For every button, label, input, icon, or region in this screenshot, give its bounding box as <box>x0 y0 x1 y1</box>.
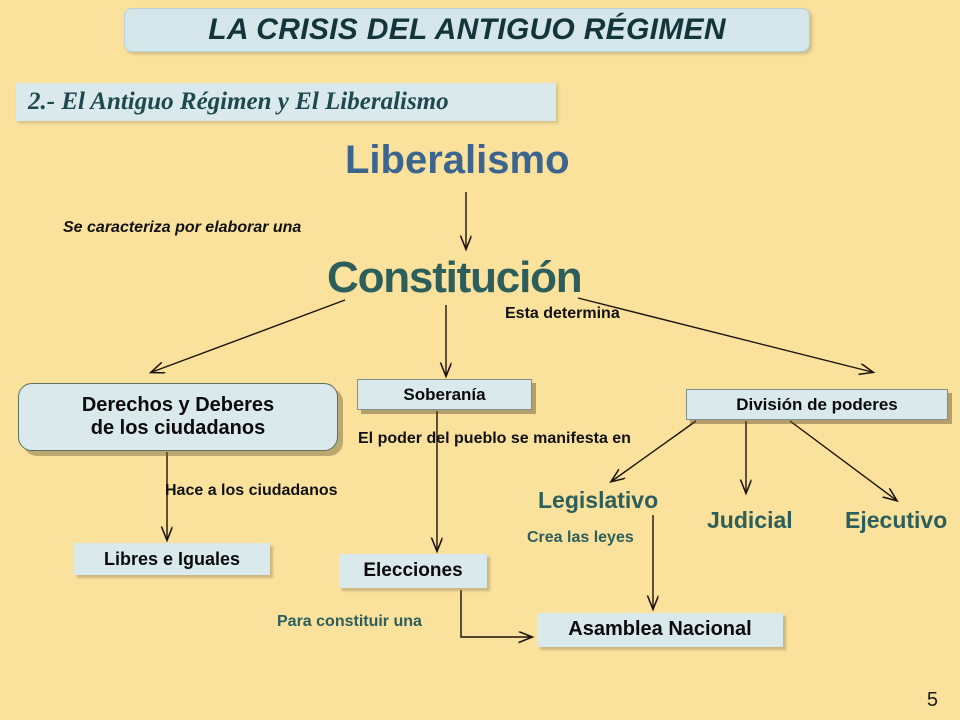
arrow-division-ejecutivo <box>790 421 896 500</box>
node-soberania: Soberanía <box>357 379 532 410</box>
label-judicial: Judicial <box>707 507 793 534</box>
caption-se-caracteriza: Se caracteriza por elaborar una <box>63 219 301 237</box>
arrow-constitucion-division <box>578 298 872 372</box>
slide-subtitle-banner: 2.- El Antiguo Régimen y El Liberalismo <box>16 83 556 121</box>
heading-liberalismo: Liberalismo <box>345 138 570 183</box>
label-ejecutivo: Ejecutivo <box>845 507 947 534</box>
node-derechos-y-deberes: Derechos y Deberes de los ciudadanos <box>18 383 338 451</box>
node-elecciones: Elecciones <box>339 554 487 588</box>
arrow-elecciones-asamblea <box>461 590 531 637</box>
node-libres-label: Libres e Iguales <box>104 549 240 570</box>
slide-canvas: LA CRISIS DEL ANTIGUO RÉGIMEN 2.- El Ant… <box>0 0 960 720</box>
slide-title-banner: LA CRISIS DEL ANTIGUO RÉGIMEN <box>124 8 810 52</box>
node-asamblea-label: Asamblea Nacional <box>568 618 751 641</box>
page-title: LA CRISIS DEL ANTIGUO RÉGIMEN <box>208 13 726 47</box>
caption-el-poder-del-pueblo: El poder del pueblo se manifesta en <box>358 430 538 448</box>
node-division-de-poderes: División de poderes <box>686 389 948 420</box>
node-libres-e-iguales: Libres e Iguales <box>74 543 270 575</box>
caption-esta-determina: Esta determina <box>505 305 620 323</box>
caption-hace-a-los-ciudadanos: Hace a los ciudadanos <box>165 482 338 500</box>
node-derechos-label: Derechos y Deberes de los ciudadanos <box>82 394 274 440</box>
section-subtitle: 2.- El Antiguo Régimen y El Liberalismo <box>16 88 449 116</box>
page-number: 5 <box>927 689 938 712</box>
node-division-label: División de poderes <box>736 395 898 415</box>
caption-para-constituir-una: Para constituir una <box>277 613 422 631</box>
node-elecciones-label: Elecciones <box>363 560 462 582</box>
label-legislativo: Legislativo <box>538 487 658 514</box>
node-soberania-label: Soberanía <box>403 385 485 405</box>
heading-constitucion: Constitución <box>327 253 581 303</box>
caption-crea-las-leyes: Crea las leyes <box>527 529 634 547</box>
arrow-constitucion-derechos <box>152 300 345 372</box>
node-asamblea-nacional: Asamblea Nacional <box>537 613 783 647</box>
